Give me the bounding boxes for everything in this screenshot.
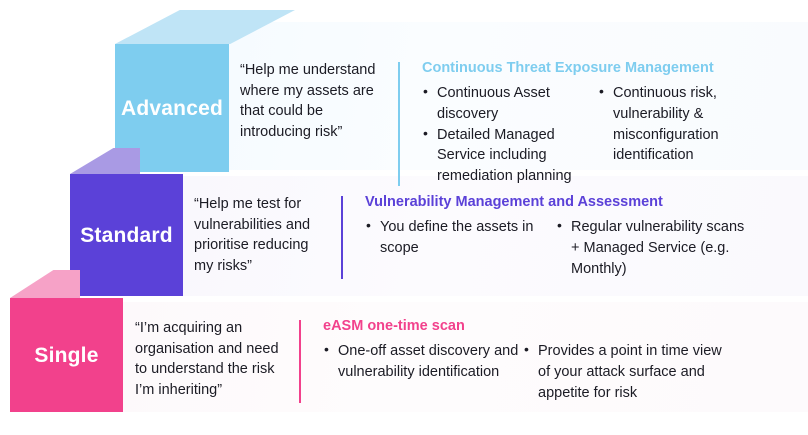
tier-detail-single: eASM one-time scan One-off asset discove… <box>323 318 795 403</box>
tier-quote-single: “I’m acquiring an organisation and need … <box>135 318 285 400</box>
tier-bullet-column-right-single: Provides a point in time view of your at… <box>523 341 733 403</box>
tier-detail-standard: Vulnerability Management and Assessment … <box>365 194 796 279</box>
list-item: Detailed Managed Service including remed… <box>422 125 598 187</box>
tier-label-advanced: Advanced <box>121 98 223 119</box>
tier-content-single: “I’m acquiring an organisation and need … <box>135 318 795 403</box>
tier-block-standard-front-face: Standard <box>70 174 183 296</box>
tier-content-standard: “Help me test for vulnerabilities and pr… <box>194 194 796 279</box>
tier-block-single-top-face <box>10 270 80 298</box>
tier-block-single[interactable]: Single <box>10 298 123 412</box>
list-item: Continuous risk, vulnerability & misconf… <box>598 83 748 165</box>
tier-block-single-front-face: Single <box>10 298 123 412</box>
tier-bullet-column-right-standard: Regular vulnerability scans + Managed Se… <box>556 217 756 279</box>
list-item: Provides a point in time view of your at… <box>523 341 733 403</box>
list-item: You define the assets in scope <box>365 217 556 258</box>
tier-quote-advanced: “Help me understand where my assets are … <box>240 60 382 142</box>
tier-heading-advanced: Continuous Threat Exposure Management <box>422 60 796 77</box>
tier-quote-standard: “Help me test for vulnerabilities and pr… <box>194 194 327 276</box>
tier-label-single: Single <box>34 345 98 366</box>
tier-block-standard-top-face <box>70 148 140 174</box>
tier-detail-advanced: Continuous Threat Exposure Management Co… <box>422 60 796 186</box>
tier-content-advanced: “Help me understand where my assets are … <box>240 60 796 186</box>
list-item: Regular vulnerability scans + Managed Se… <box>556 217 756 279</box>
tier-bullet-columns-single: One-off asset discovery and vulnerabilit… <box>323 341 795 403</box>
tier-bullet-columns-advanced: Continuous Asset discovery Detailed Mana… <box>422 83 796 186</box>
maturity-staircase-diagram: Advanced “Help me understand where my as… <box>0 0 808 435</box>
tier-bullet-columns-standard: You define the assets in scope Regular v… <box>365 217 796 279</box>
tier-block-standard[interactable]: Standard <box>70 174 183 296</box>
tier-divider-standard <box>341 196 343 279</box>
list-item: One-off asset discovery and vulnerabilit… <box>323 341 523 382</box>
tier-bullet-column-right-advanced: Continuous risk, vulnerability & misconf… <box>598 83 748 165</box>
tier-bullet-column-left-single: One-off asset discovery and vulnerabilit… <box>323 341 523 382</box>
tier-heading-standard: Vulnerability Management and Assessment <box>365 194 796 211</box>
tier-bullet-column-left-standard: You define the assets in scope <box>365 217 556 258</box>
tier-divider-single <box>299 320 301 403</box>
tier-bullet-column-left-advanced: Continuous Asset discovery Detailed Mana… <box>422 83 598 186</box>
list-item: Continuous Asset discovery <box>422 83 598 124</box>
tier-heading-single: eASM one-time scan <box>323 318 795 335</box>
tier-divider-advanced <box>398 62 400 186</box>
tier-label-standard: Standard <box>80 225 173 246</box>
